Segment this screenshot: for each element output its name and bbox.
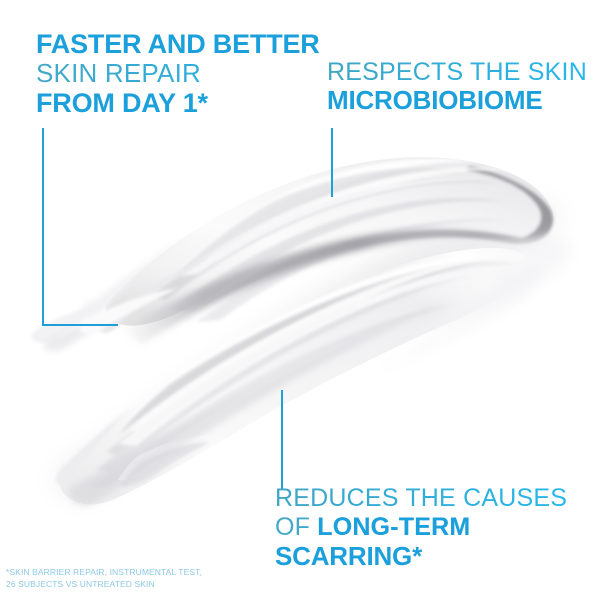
callout-top-right-line2: MICROBIOBIOME <box>327 86 587 115</box>
callout-top-left-line1: FASTER AND BETTER <box>36 30 320 59</box>
cream-flick-upper-left <box>32 288 178 351</box>
callout-reduces-scarring: REDUCES THE CAUSES OF LONG-TERM SCARRING… <box>275 484 567 571</box>
footnote-line1: *SKIN BARRIER REPAIR, INSTRUMENTAL TEST, <box>6 567 202 579</box>
leader-line-bottom-right-vertical <box>281 390 283 489</box>
callout-respects-microbiome: RESPECTS THE SKIN MICROBIOBIOME <box>327 58 587 115</box>
cream-stroke-lower <box>56 248 540 506</box>
callout-bottom-right-line2-prefix: OF <box>275 513 317 541</box>
cream-stroke-upper <box>83 157 554 333</box>
footnote: *SKIN BARRIER REPAIR, INSTRUMENTAL TEST,… <box>6 567 202 590</box>
callout-bottom-right-line2-bold: LONG-TERM <box>317 513 470 541</box>
callout-bottom-right-line1: REDUCES THE CAUSES <box>275 484 567 513</box>
callout-bottom-right-line2: OF LONG-TERM <box>275 513 567 542</box>
leader-line-top-left-horizontal <box>42 324 118 326</box>
callout-top-left-line2: SKIN REPAIR <box>36 59 320 88</box>
callout-bottom-right-line3: SCARRING* <box>275 542 567 571</box>
footnote-line2: 26 SUBJECTS VS UNTREATED SKIN <box>6 579 202 591</box>
leader-line-top-left-vertical <box>42 128 44 326</box>
callout-top-left-line3: FROM DAY 1* <box>36 88 320 118</box>
product-claims-poster: FASTER AND BETTER SKIN REPAIR FROM DAY 1… <box>0 0 600 600</box>
callout-top-right-line1: RESPECTS THE SKIN <box>327 58 587 86</box>
leader-line-top-right-vertical <box>331 128 333 197</box>
callout-faster-and-better: FASTER AND BETTER SKIN REPAIR FROM DAY 1… <box>36 30 320 118</box>
